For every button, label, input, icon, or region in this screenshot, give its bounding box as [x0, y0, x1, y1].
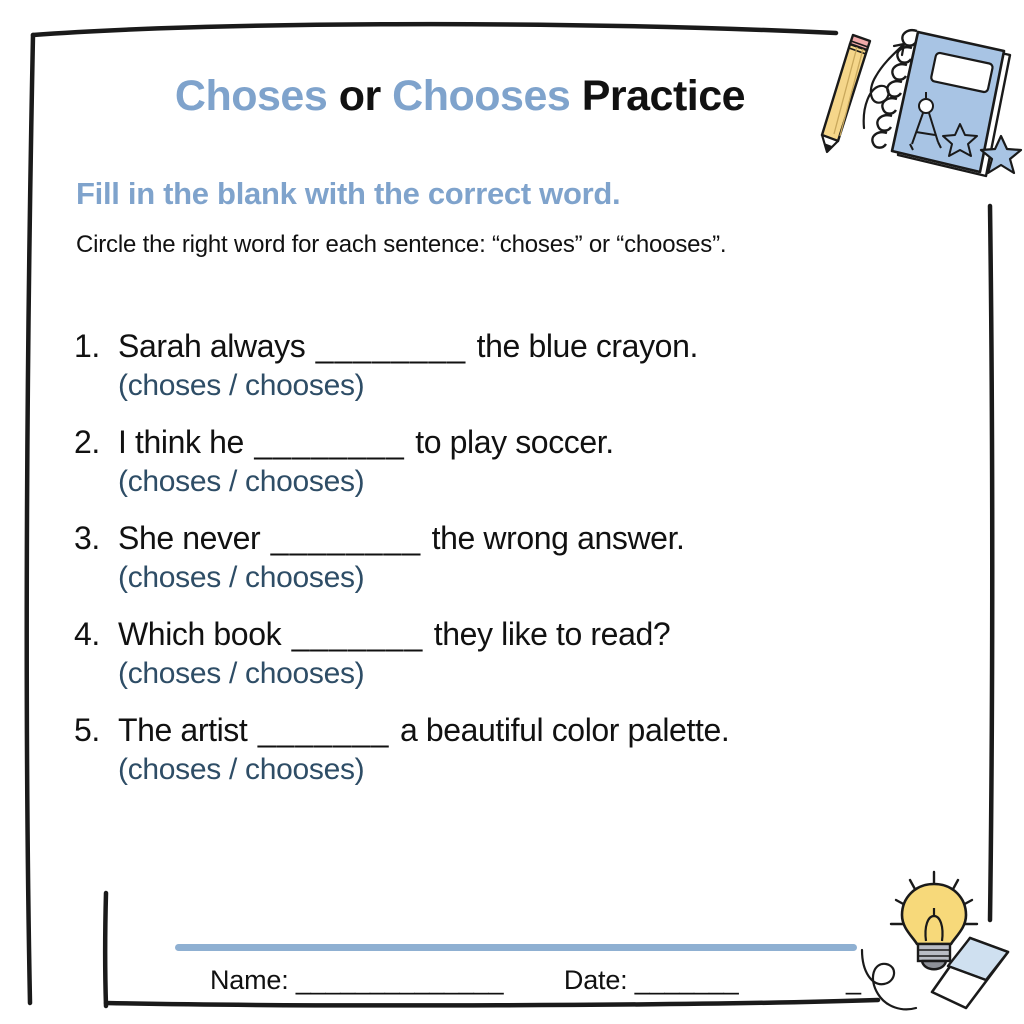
- question-item: 3.She never ________ the wrong answer.(c…: [74, 520, 984, 595]
- question-number: 2.: [74, 424, 118, 461]
- title-word-choses: Choses: [175, 72, 327, 120]
- worksheet-page: Choses or Chooses Practice Fill in the b…: [0, 0, 1024, 1024]
- title-word-practice: Practice: [570, 72, 745, 120]
- squiggle-icon: [864, 44, 904, 128]
- question-sentence: 5.The artist _______ a beautiful color p…: [74, 712, 984, 749]
- question-text-after: the wrong answer.: [423, 520, 684, 556]
- answer-blank[interactable]: _______: [290, 616, 426, 652]
- idea-illustration: [858, 866, 1024, 1024]
- answer-blank[interactable]: ________: [252, 424, 406, 460]
- question-sentence: 2.I think he ________ to play soccer.: [74, 424, 984, 461]
- question-item: 1.Sarah always ________ the blue crayon.…: [74, 328, 984, 403]
- question-text-before: Sarah always: [118, 328, 314, 364]
- footer-divider: [175, 944, 857, 951]
- compass-icon: [910, 92, 941, 150]
- question-number: 4.: [74, 616, 118, 653]
- eraser-icon: [932, 938, 1008, 1008]
- answer-blank[interactable]: ________: [314, 328, 468, 364]
- question-text-after: the blue crayon.: [468, 328, 698, 364]
- question-text-before: The artist: [118, 712, 256, 748]
- worksheet-subtitle: Fill in the blank with the correct word.: [76, 176, 620, 212]
- answer-options[interactable]: (choses / chooses): [118, 465, 984, 499]
- squiggle-icon: [862, 950, 916, 1009]
- question-text-after: a beautiful color palette.: [391, 712, 729, 748]
- answer-options[interactable]: (choses / chooses): [118, 753, 984, 787]
- question-item: 2.I think he ________ to play soccer.(ch…: [74, 424, 984, 499]
- question-number: 5.: [74, 712, 118, 749]
- lightbulb-icon: [902, 884, 966, 969]
- question-sentence: 3.She never ________ the wrong answer.: [74, 520, 984, 557]
- date-label: Date:: [564, 965, 628, 995]
- question-number: 3.: [74, 520, 118, 557]
- question-body: The artist _______ a beautiful color pal…: [118, 712, 729, 749]
- answer-options[interactable]: (choses / chooses): [118, 561, 984, 595]
- question-item: 4.Which book _______ they like to read?(…: [74, 616, 984, 691]
- question-text-before: She never: [118, 520, 269, 556]
- footer-tail-mark: _: [846, 965, 861, 996]
- answer-blank[interactable]: ________: [269, 520, 423, 556]
- question-sentence: 1.Sarah always ________ the blue crayon.: [74, 328, 984, 365]
- question-item: 5.The artist _______ a beautiful color p…: [74, 712, 984, 787]
- answer-options[interactable]: (choses / chooses): [118, 369, 984, 403]
- question-body: She never ________ the wrong answer.: [118, 520, 685, 557]
- name-label: Name:: [210, 965, 289, 995]
- answer-options[interactable]: (choses / chooses): [118, 657, 984, 691]
- question-text-before: I think he: [118, 424, 252, 460]
- question-text-after: to play soccer.: [407, 424, 614, 460]
- title-word-chooses: Chooses: [392, 72, 570, 120]
- question-sentence: 4.Which book _______ they like to read?: [74, 616, 984, 653]
- star-icon-loose: [981, 136, 1021, 173]
- question-list: 1.Sarah always ________ the blue crayon.…: [74, 328, 984, 808]
- spiral-notebook-icon: [872, 30, 1004, 172]
- date-blank[interactable]: _______: [635, 965, 739, 995]
- question-body: Which book _______ they like to read?: [118, 616, 670, 653]
- footer-fields: Name: ______________ Date: _______: [210, 965, 738, 996]
- answer-blank[interactable]: _______: [256, 712, 392, 748]
- star-icon: [943, 124, 977, 156]
- page-title: Choses or Chooses Practice: [60, 72, 860, 121]
- title-conjunction: or: [327, 72, 392, 120]
- question-body: Sarah always ________ the blue crayon.: [118, 328, 698, 365]
- name-blank[interactable]: ______________: [296, 965, 503, 995]
- question-text-after: they like to read?: [425, 616, 670, 652]
- question-number: 1.: [74, 328, 118, 365]
- question-body: I think he ________ to play soccer.: [118, 424, 614, 461]
- question-text-before: Which book: [118, 616, 290, 652]
- spiral-binding-icon: [872, 30, 917, 147]
- light-rays-icon: [891, 872, 977, 924]
- notebook-label-box: [931, 52, 994, 92]
- worksheet-instruction: Circle the right word for each sentence:…: [76, 231, 726, 259]
